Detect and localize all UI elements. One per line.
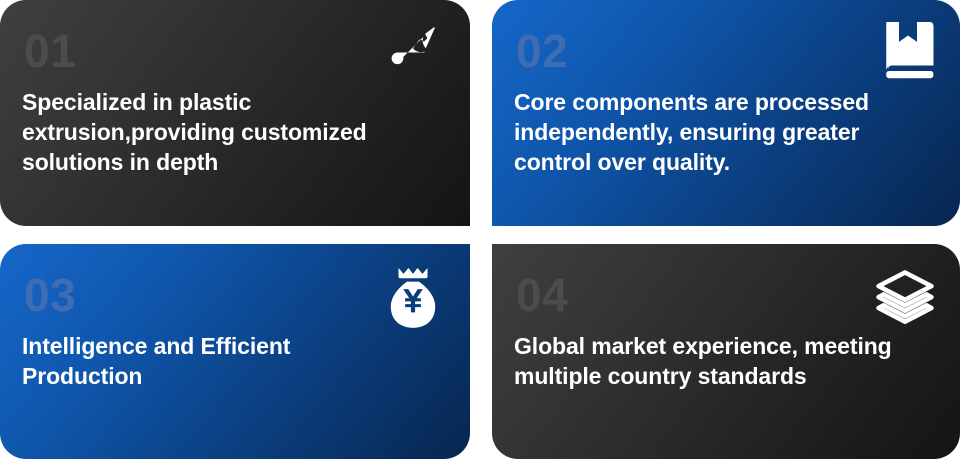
feature-card-01-number: 01 [24, 28, 444, 74]
feature-card-grid: 01 Specialized in plastic extrusion,prov… [0, 0, 960, 459]
layers-stack-icon [874, 268, 936, 328]
feature-card-03[interactable]: 03 Intelligence and Efficient Production [0, 244, 470, 459]
money-bag-yen-icon [384, 266, 442, 328]
feature-card-03-number: 03 [24, 272, 444, 318]
feature-card-03-title: Intelligence and Efficient Production [22, 332, 402, 392]
book-bookmark-icon [882, 22, 934, 80]
feature-card-01-title: Specialized in plastic extrusion,providi… [22, 88, 444, 178]
feature-card-02-number: 02 [516, 28, 934, 74]
feature-card-01[interactable]: 01 Specialized in plastic extrusion,prov… [0, 0, 470, 226]
feature-card-04-number: 04 [516, 272, 934, 318]
wrench-icon [386, 22, 442, 78]
feature-card-02-title: Core components are processed independen… [514, 88, 934, 178]
feature-card-04-title: Global market experience, meeting multip… [514, 332, 934, 392]
feature-card-02[interactable]: 02 Core components are processed indepen… [492, 0, 960, 226]
feature-card-04[interactable]: 04 Global market experience, meeting mul… [492, 244, 960, 459]
